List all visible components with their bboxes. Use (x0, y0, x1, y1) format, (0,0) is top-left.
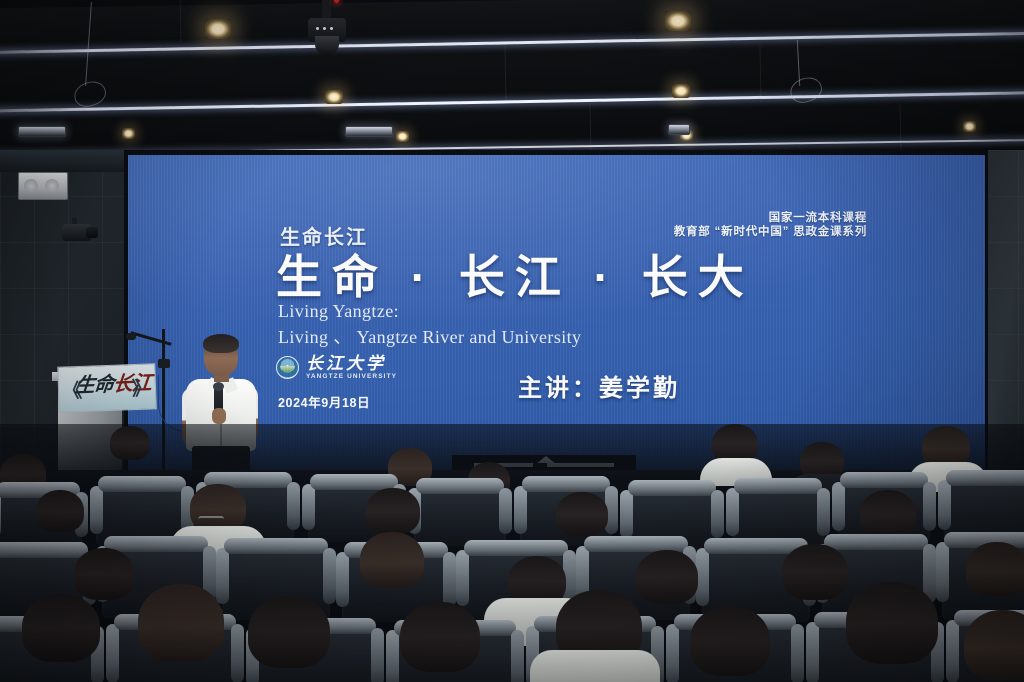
podium-sign-text-1: 生命 (74, 374, 114, 397)
ceiling-slot-light (18, 126, 66, 137)
university-name-cn: 长江大学 (306, 355, 397, 372)
ceiling-spotlight (205, 19, 231, 39)
ceiling-spotlight (665, 11, 691, 31)
audience-head (556, 492, 608, 536)
audience-head (366, 488, 420, 534)
audience-head (110, 426, 150, 460)
slide-date: 2024年9月18日 (278, 392, 370, 411)
badge-line-1: 国家一流本科课程 (674, 211, 867, 225)
air-conditioner-icon (18, 172, 68, 200)
university-seal-icon (276, 356, 299, 379)
audience-shoulders (530, 650, 660, 682)
ceiling-slot-light (668, 124, 690, 135)
ceiling-spotlight (396, 131, 409, 142)
eyeglasses-icon (198, 516, 224, 525)
audience-head (782, 544, 848, 600)
ceiling (0, 0, 1024, 158)
audience-head (964, 610, 1024, 680)
audience-head (360, 532, 424, 588)
audience-head (690, 606, 770, 676)
microphone-icon (126, 333, 136, 340)
audience-head (74, 548, 134, 600)
ceiling-slot-light (345, 126, 393, 137)
slide-course-badge: 国家一流本科课程 教育部 “新时代中国” 思政金课系列 (674, 211, 867, 240)
ceiling-spotlight (963, 121, 976, 132)
badge-line-2: 教育部 “新时代中国” 思政金课系列 (674, 225, 867, 239)
audience-head (36, 490, 84, 532)
ceiling-camera-icon (306, 0, 348, 58)
audience-head (400, 602, 480, 672)
ceiling-spotlight (672, 84, 690, 98)
ceiling-spotlight (325, 90, 343, 104)
audience-head (138, 584, 224, 662)
audience-head (846, 582, 938, 664)
audience-head (966, 542, 1024, 596)
audience-head (860, 490, 916, 538)
university-logo-text: 长江大学 YANGTZE UNIVERSITY (306, 355, 397, 381)
slide-english-line-1: Living Yangtze: (278, 301, 399, 322)
audience-seating-area (0, 424, 1024, 682)
slide-speaker-line: 主讲：姜学勤 (518, 368, 680, 403)
audience-head (22, 594, 100, 662)
lecture-hall-photo: 生命长江 生命 · 长江 · 长大 Living Yangtze: Living… (0, 0, 1024, 682)
wall-camera-icon (62, 218, 98, 244)
ceiling-spotlight (122, 128, 135, 139)
left-wall-header-band (0, 150, 132, 172)
audience-head (636, 550, 698, 604)
university-name-en: YANGTZE UNIVERSITY (306, 374, 397, 381)
audience-head (248, 596, 330, 668)
university-logo: 长江大学 YANGTZE UNIVERSITY (276, 355, 397, 381)
slide-main-title: 生命 · 长江 · 长大 (276, 241, 754, 307)
slide-english-line-2: Living 、 Yangtze River and University (278, 323, 581, 349)
seat (414, 482, 506, 546)
